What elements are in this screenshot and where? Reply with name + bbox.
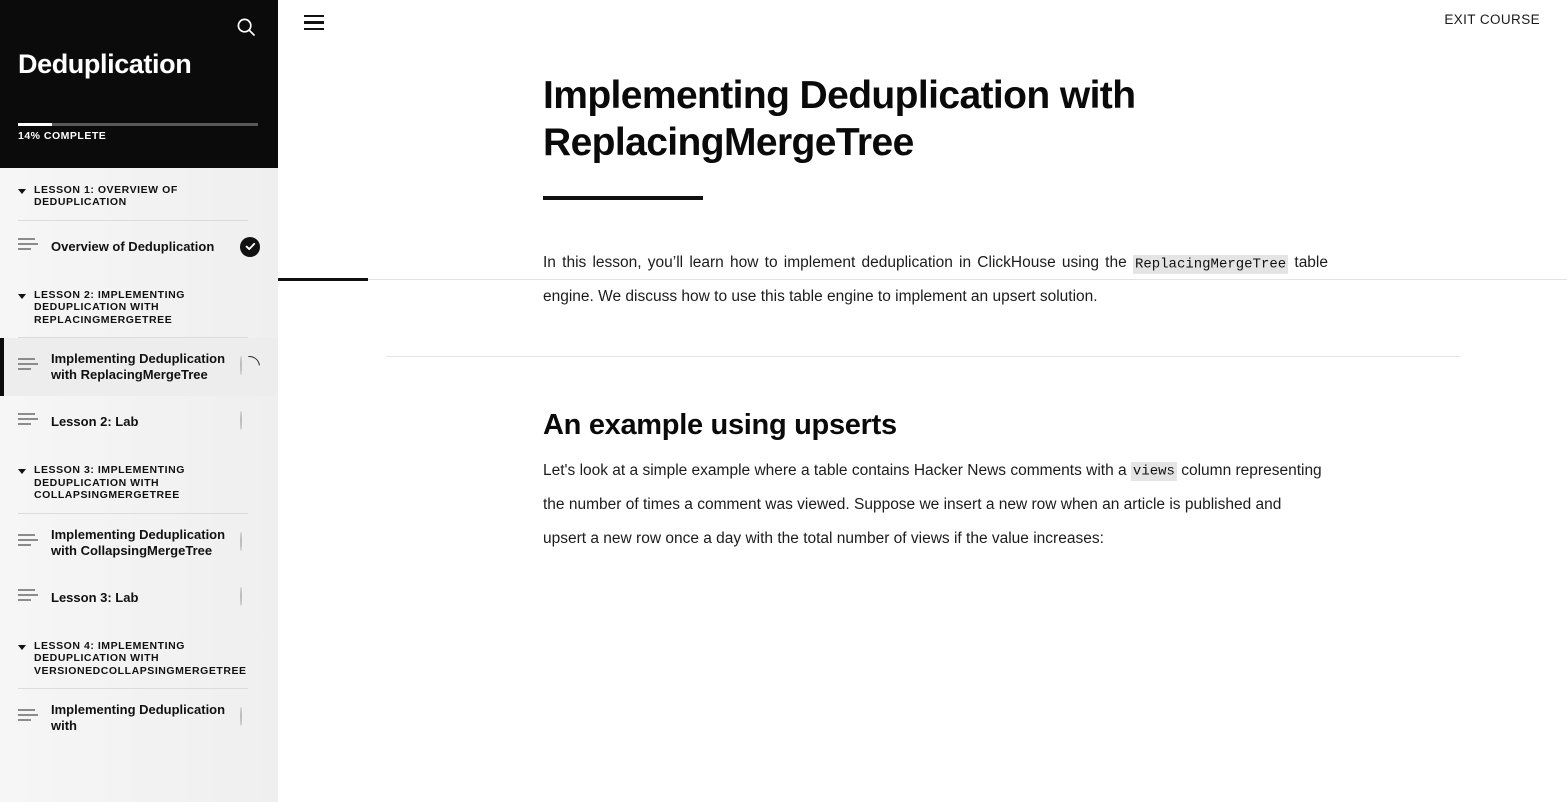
status-incomplete-icon: [240, 588, 260, 608]
chevron-down-icon: [18, 294, 26, 299]
lesson-lines-icon: [18, 358, 38, 376]
course-title: Deduplication: [18, 50, 191, 80]
lesson-group: LESSON 2: IMPLEMENTING DEDUPLICATION WIT…: [0, 273, 278, 449]
lesson-item-label: Lesson 3: Lab: [51, 590, 240, 606]
status-incomplete-icon: [240, 412, 260, 432]
section-heading: An example using upserts: [543, 409, 1567, 442]
intro-text-1: In this lesson, you’ll learn how to impl…: [543, 254, 1133, 271]
lesson-content: EXIT COURSE Implementing Deduplication w…: [278, 0, 1567, 802]
course-progress-bar: [18, 123, 258, 126]
hamburger-menu-icon[interactable]: [304, 15, 324, 30]
lesson-lines-icon: [18, 413, 38, 431]
course-progress-label: 14% COMPLETE: [18, 130, 106, 142]
status-in-progress-icon: [240, 357, 260, 377]
top-bar: EXIT COURSE: [278, 0, 1567, 46]
chevron-down-icon: [18, 189, 26, 194]
content-progress-track: [278, 279, 1567, 280]
inline-code-views: views: [1131, 462, 1177, 481]
lesson-body: In this lesson, you’ll learn how to impl…: [543, 200, 1328, 314]
section-body: Let's look at a simple example where a t…: [543, 454, 1328, 555]
lesson-list-item[interactable]: Overview of Deduplication: [0, 221, 278, 273]
lesson-lines-icon: [18, 709, 38, 727]
search-icon[interactable]: [232, 13, 260, 41]
section-divider: [386, 356, 1461, 357]
course-progress-fill: [18, 123, 52, 126]
lesson-group-label: LESSON 3: IMPLEMENTING DEDUPLICATION WIT…: [34, 464, 254, 501]
intro-paragraph: In this lesson, you’ll learn how to impl…: [543, 246, 1328, 314]
lesson-list[interactable]: LESSON 1: OVERVIEW OF DEDUPLICATIONOverv…: [0, 168, 278, 802]
status-complete-icon: [240, 237, 260, 257]
section-paragraph: Let's look at a simple example where a t…: [543, 454, 1328, 555]
lesson-group-header[interactable]: LESSON 1: OVERVIEW OF DEDUPLICATION: [0, 168, 278, 209]
lesson-list-item[interactable]: Lesson 2: Lab: [0, 396, 278, 448]
lesson-group-label: LESSON 1: OVERVIEW OF DEDUPLICATION: [34, 184, 254, 209]
lesson-group: LESSON 4: IMPLEMENTING DEDUPLICATION WIT…: [0, 624, 278, 748]
lesson-item-label: Implementing Deduplication with Collapsi…: [51, 527, 240, 560]
lesson-lines-icon: [18, 589, 38, 607]
course-player: Deduplication 14% COMPLETE LESSON 1: OVE…: [0, 0, 1567, 802]
lesson-group-header[interactable]: LESSON 4: IMPLEMENTING DEDUPLICATION WIT…: [0, 624, 278, 677]
lesson-lines-icon: [18, 238, 38, 256]
lesson-group-header[interactable]: LESSON 3: IMPLEMENTING DEDUPLICATION WIT…: [0, 448, 278, 501]
lesson-item-label: Overview of Deduplication: [51, 239, 240, 255]
page-title: Implementing Deduplication with Replacin…: [543, 72, 1303, 166]
course-sidebar: Deduplication 14% COMPLETE LESSON 1: OVE…: [0, 0, 278, 802]
sidebar-header: Deduplication 14% COMPLETE: [0, 0, 278, 168]
chevron-down-icon: [18, 469, 26, 474]
exit-course-button[interactable]: EXIT COURSE: [1444, 12, 1540, 27]
lesson-group: LESSON 3: IMPLEMENTING DEDUPLICATION WIT…: [0, 448, 278, 624]
lesson-item-label: Implementing Deduplication with: [51, 702, 240, 735]
lesson-list-item[interactable]: Implementing Deduplication with: [0, 689, 278, 748]
chevron-down-icon: [18, 645, 26, 650]
status-incomplete-icon: [240, 533, 260, 553]
lesson-group: LESSON 1: OVERVIEW OF DEDUPLICATIONOverv…: [0, 168, 278, 273]
lesson-group-label: LESSON 4: IMPLEMENTING DEDUPLICATION WIT…: [34, 640, 254, 677]
section-text-1: Let's look at a simple example where a t…: [543, 462, 1131, 479]
content-progress-fill: [278, 278, 368, 281]
lesson-item-label: Implementing Deduplication with Replacin…: [51, 351, 240, 384]
lesson-group-label: LESSON 2: IMPLEMENTING DEDUPLICATION WIT…: [34, 289, 254, 326]
lesson-list-item[interactable]: Implementing Deduplication with Replacin…: [0, 338, 278, 397]
status-incomplete-icon: [240, 708, 260, 728]
lesson-list-item[interactable]: Lesson 3: Lab: [0, 572, 278, 624]
lesson-list-item[interactable]: Implementing Deduplication with Collapsi…: [0, 514, 278, 573]
lesson-group-header[interactable]: LESSON 2: IMPLEMENTING DEDUPLICATION WIT…: [0, 273, 278, 326]
lesson-item-label: Lesson 2: Lab: [51, 414, 240, 430]
lesson-lines-icon: [18, 534, 38, 552]
inline-code-replacingmergetree: ReplacingMergeTree: [1133, 255, 1288, 274]
